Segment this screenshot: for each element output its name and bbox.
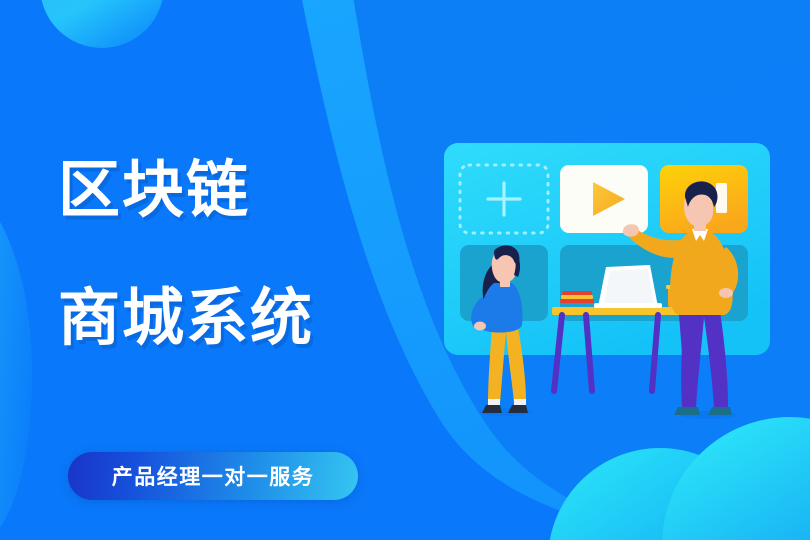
- desk-top: [552, 307, 692, 315]
- woman-shoe-left: [482, 405, 502, 413]
- book-stack: [560, 291, 594, 303]
- man-shoe-left: [674, 407, 700, 415]
- tagline-text: 产品经理一对一服务: [112, 461, 315, 491]
- headline-line-1: 区块链: [58, 160, 250, 222]
- woman-hand: [474, 322, 486, 331]
- headline-line-2: 商城系统: [58, 288, 314, 350]
- video-card: [560, 165, 648, 233]
- office-illustration: [420, 115, 810, 435]
- tagline-pill[interactable]: 产品经理一对一服务: [68, 452, 358, 500]
- promo-banner: 区块链 商城系统 产品经理一对一服务: [0, 0, 810, 540]
- woman-shoe-right: [508, 405, 528, 413]
- man-hand-hip: [719, 288, 733, 298]
- man-shoe-right: [708, 407, 732, 415]
